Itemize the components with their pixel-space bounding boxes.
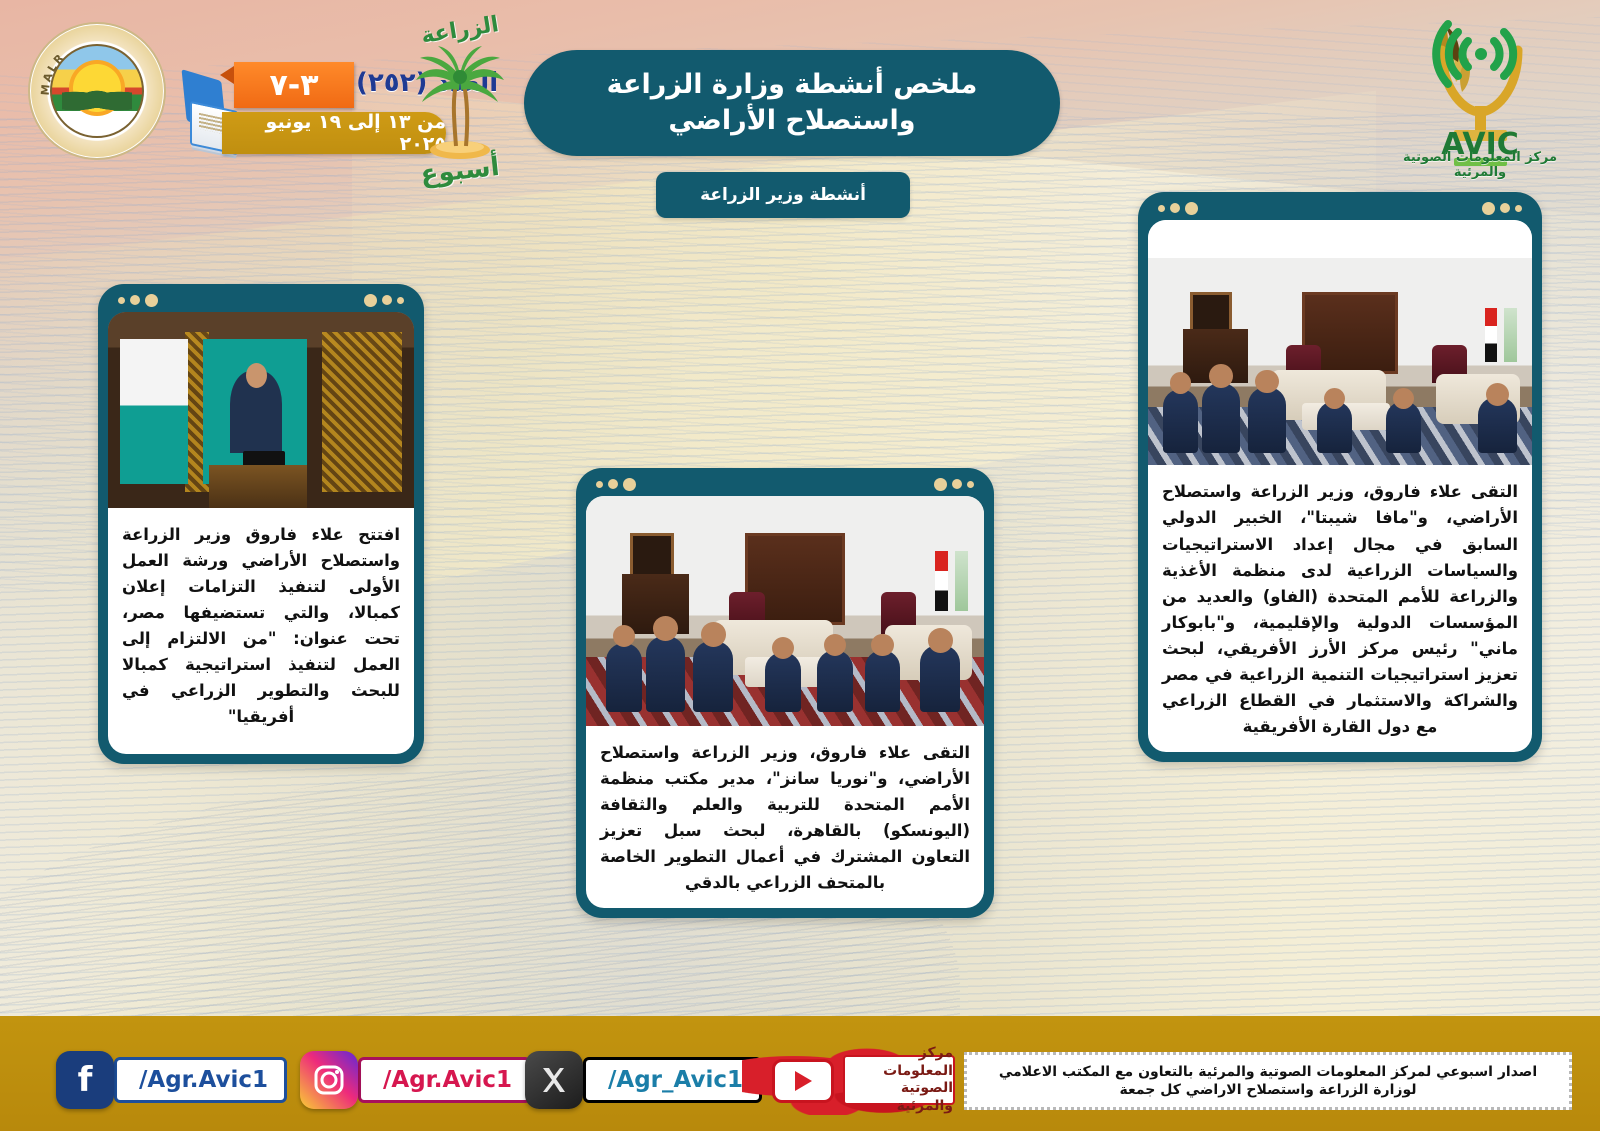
social-link-facebook[interactable]: /Agr.Avic1 f	[56, 1051, 279, 1109]
card-dots-right	[1482, 201, 1522, 215]
card-dots-left	[596, 477, 636, 491]
card-photo-top-margin	[1148, 220, 1532, 258]
agriculture-week-logo: الزراعة أسبوع	[396, 18, 524, 188]
card-body: التقى علاء فاروق، وزير الزراعة واستصلاح …	[1148, 220, 1532, 752]
card-photo	[586, 496, 984, 726]
youtube-channel-label[interactable]: مركز المعلومات الصوتية والمرئية	[843, 1055, 955, 1105]
youtube-icon[interactable]	[772, 1059, 834, 1103]
card-text: افتتح علاء فاروق وزير الزراعة واستصلاح ا…	[108, 508, 414, 743]
x-twitter-icon[interactable]	[525, 1051, 583, 1109]
card-body: التقى علاء فاروق، وزير الزراعة واستصلاح …	[586, 496, 984, 908]
card-photo	[108, 312, 414, 508]
avic-logo: AVIC مركز المعلومات الصوتية والمرئية	[1382, 6, 1578, 182]
page-title: ملخص أنشطة وزارة الزراعة واستصلاح الأراض…	[524, 50, 1060, 156]
card-dots-left	[118, 293, 158, 307]
news-card-left[interactable]: افتتح علاء فاروق وزير الزراعة واستصلاح ا…	[98, 284, 424, 764]
section-subtitle: أنشطة وزير الزراعة	[656, 172, 910, 218]
instagram-handle[interactable]: /Agr.Avic1	[358, 1057, 531, 1103]
card-body: افتتح علاء فاروق وزير الزراعة واستصلاح ا…	[108, 312, 414, 754]
social-link-x[interactable]: /Agr_Avic1	[525, 1051, 754, 1109]
social-link-instagram[interactable]: /Agr.Avic1	[300, 1051, 523, 1109]
svg-text:MALR: MALR	[39, 50, 68, 95]
card-dots-right	[934, 477, 974, 491]
avic-logo-mark: AVIC	[1382, 6, 1578, 166]
issue-week-banner: ٣-٧	[234, 62, 354, 108]
x-handle[interactable]: /Agr_Avic1	[583, 1057, 762, 1103]
news-card-right[interactable]: التقى علاء فاروق، وزير الزراعة واستصلاح …	[1138, 192, 1542, 762]
instagram-icon[interactable]	[300, 1051, 358, 1109]
card-text: التقى علاء فاروق، وزير الزراعة واستصلاح …	[586, 726, 984, 908]
card-dots-left	[1158, 201, 1198, 215]
card-photo	[1148, 258, 1532, 465]
facebook-icon[interactable]: f	[56, 1051, 114, 1109]
ministry-emblem-ring-text: MALR	[28, 24, 164, 160]
palm-tree-icon	[410, 46, 510, 162]
footer-bar: /Agr.Avic1 f /Agr.Avic1 /Agr_Avic1	[0, 1016, 1600, 1131]
news-card-middle[interactable]: التقى علاء فاروق، وزير الزراعة واستصلاح …	[576, 468, 994, 918]
youtube-label-line2: الصوتية والمرئية	[845, 1080, 953, 1115]
malr-acronym: MALR	[39, 50, 68, 95]
ministry-emblem-logo: MALR	[28, 22, 166, 160]
social-link-youtube[interactable]: مركز المعلومات الصوتية والمرئية	[742, 1043, 957, 1115]
poster-canvas: MALR ٣-٧ العدد (٢٥٢) من ١٣ إلى ١٩ يونيو …	[0, 0, 1600, 1131]
youtube-label-line1: مركز المعلومات	[845, 1045, 953, 1080]
footer-note: اصدار اسبوعي لمركز المعلومات الصوتية وال…	[964, 1052, 1572, 1110]
card-text: التقى علاء فاروق، وزير الزراعة واستصلاح …	[1148, 465, 1532, 752]
card-dots-right	[364, 293, 404, 307]
facebook-handle[interactable]: /Agr.Avic1	[114, 1057, 287, 1103]
avic-center-name: مركز المعلومات الصوتية والمرئية	[1382, 150, 1578, 180]
